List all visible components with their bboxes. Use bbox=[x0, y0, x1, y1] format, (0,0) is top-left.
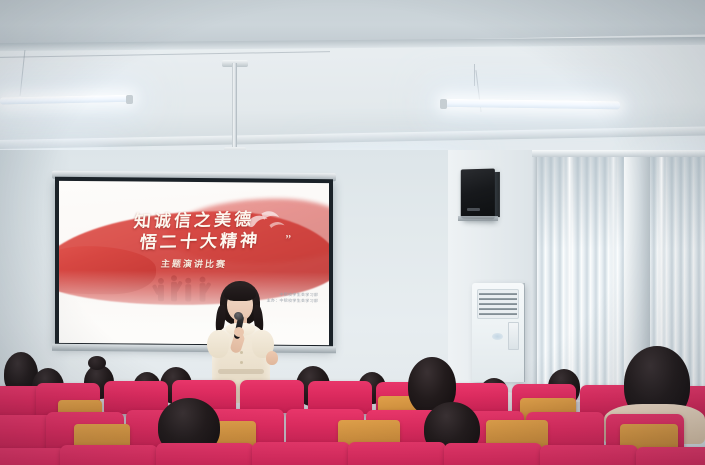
tube-light-endcap bbox=[440, 99, 447, 109]
audience-hair-bun bbox=[88, 356, 106, 370]
window-bay bbox=[536, 156, 628, 400]
air-conditioner-control-label bbox=[508, 322, 519, 350]
projection-screen[interactable]: 知诚信之美德 悟二十大精神 ” 主题演讲比赛 中院校学生会学习部 主办：中院校学… bbox=[55, 177, 333, 349]
curtain-light-gap bbox=[566, 156, 573, 400]
ceiling-panel-seam bbox=[474, 64, 475, 86]
slide-surface: 知诚信之美德 悟二十大精神 ” 主题演讲比赛 中院校学生会学习部 主办：中院校学… bbox=[59, 181, 329, 345]
auditorium-seat[interactable] bbox=[252, 442, 350, 465]
loudspeaker-bracket bbox=[458, 216, 498, 221]
presenter-sleeve-left bbox=[207, 330, 229, 358]
slide-subtitle: 主题演讲比赛 bbox=[59, 255, 329, 270]
presenter-waistline bbox=[218, 369, 264, 374]
auditorium-seat[interactable] bbox=[444, 443, 542, 465]
auditorium-seat[interactable] bbox=[60, 445, 158, 465]
projector-mount-pole bbox=[232, 63, 237, 153]
auditorium-seat[interactable] bbox=[348, 442, 446, 465]
curtain-shadow bbox=[648, 156, 705, 250]
auditorium-seat[interactable] bbox=[636, 447, 705, 465]
auditorium-seat[interactable] bbox=[156, 443, 254, 465]
curtain-light-gap bbox=[610, 156, 617, 400]
slide-quote-mark: ” bbox=[285, 231, 291, 247]
loudspeaker-badge bbox=[467, 208, 480, 211]
loudspeaker-icon bbox=[461, 168, 495, 219]
auditorium-seat[interactable] bbox=[540, 445, 638, 465]
window-head-trim bbox=[528, 150, 705, 157]
presenter-hand-holding-mic bbox=[234, 327, 244, 337]
lecture-hall-photo: 知诚信之美德 悟二十大精神 ” 主题演讲比赛 中院校学生会学习部 主办：中院校学… bbox=[0, 0, 705, 465]
tube-light-endcap bbox=[126, 95, 133, 104]
air-conditioner-brand-logo bbox=[492, 333, 503, 340]
air-conditioner-grille bbox=[477, 289, 519, 319]
presenter-hand-right bbox=[266, 351, 278, 365]
presenter-fringe bbox=[224, 286, 256, 301]
slide-bottom-fade bbox=[59, 270, 329, 345]
auditorium-seat[interactable] bbox=[0, 448, 66, 465]
